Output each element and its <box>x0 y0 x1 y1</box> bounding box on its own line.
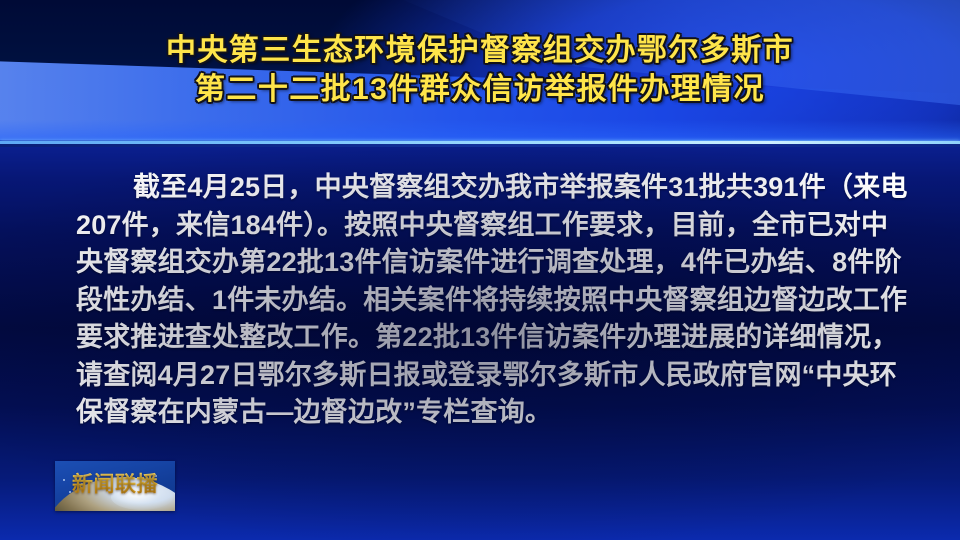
page-title: 中央第三生态环境保护督察组交办鄂尔多斯市 第二十二批13件群众信访举报件办理情况 <box>0 0 960 140</box>
body-line: 保督察在内蒙古—边督边改”专栏查询。 <box>76 394 888 432</box>
body-line: 截至4月25日，中央督察组交办我市举报案件31批共391件（来电 <box>76 169 888 207</box>
body-line: 央督察组交办第22批13件信访案件进行调查处理，4件已办结、8件阶 <box>76 244 888 282</box>
announcement-paragraph: 截至4月25日，中央督察组交办我市举报案件31批共391件（来电 207件，来信… <box>76 169 888 432</box>
body-line: 段性办结、1件未办结。相关案件将持续按照中央督察组边督边改工作 <box>76 282 888 320</box>
program-logo-label: 新闻联播 <box>55 461 175 511</box>
header-divider <box>0 140 960 147</box>
header-banner: 中央第三生态环境保护督察组交办鄂尔多斯市 第二十二批13件群众信访举报件办理情况 <box>0 0 960 146</box>
body-line: 要求推进查处整改工作。第22批13件信访案件办理进展的详细情况， <box>76 319 888 357</box>
body-line: 请查阅4月27日鄂尔多斯日报或登录鄂尔多斯市人民政府官网“中央环 <box>76 357 888 395</box>
title-line-2: 第二十二批13件群众信访举报件办理情况 <box>195 75 765 105</box>
body-line: 207件，来信184件）。按照中央督察组工作要求，目前，全市已对中 <box>76 207 888 245</box>
title-line-1: 中央第三生态环境保护督察组交办鄂尔多斯市 <box>166 36 794 66</box>
news-broadcast-graphic: 中央第三生态环境保护督察组交办鄂尔多斯市 第二十二批13件群众信访举报件办理情况… <box>0 0 960 540</box>
program-logo: 新闻联播 <box>55 461 175 511</box>
